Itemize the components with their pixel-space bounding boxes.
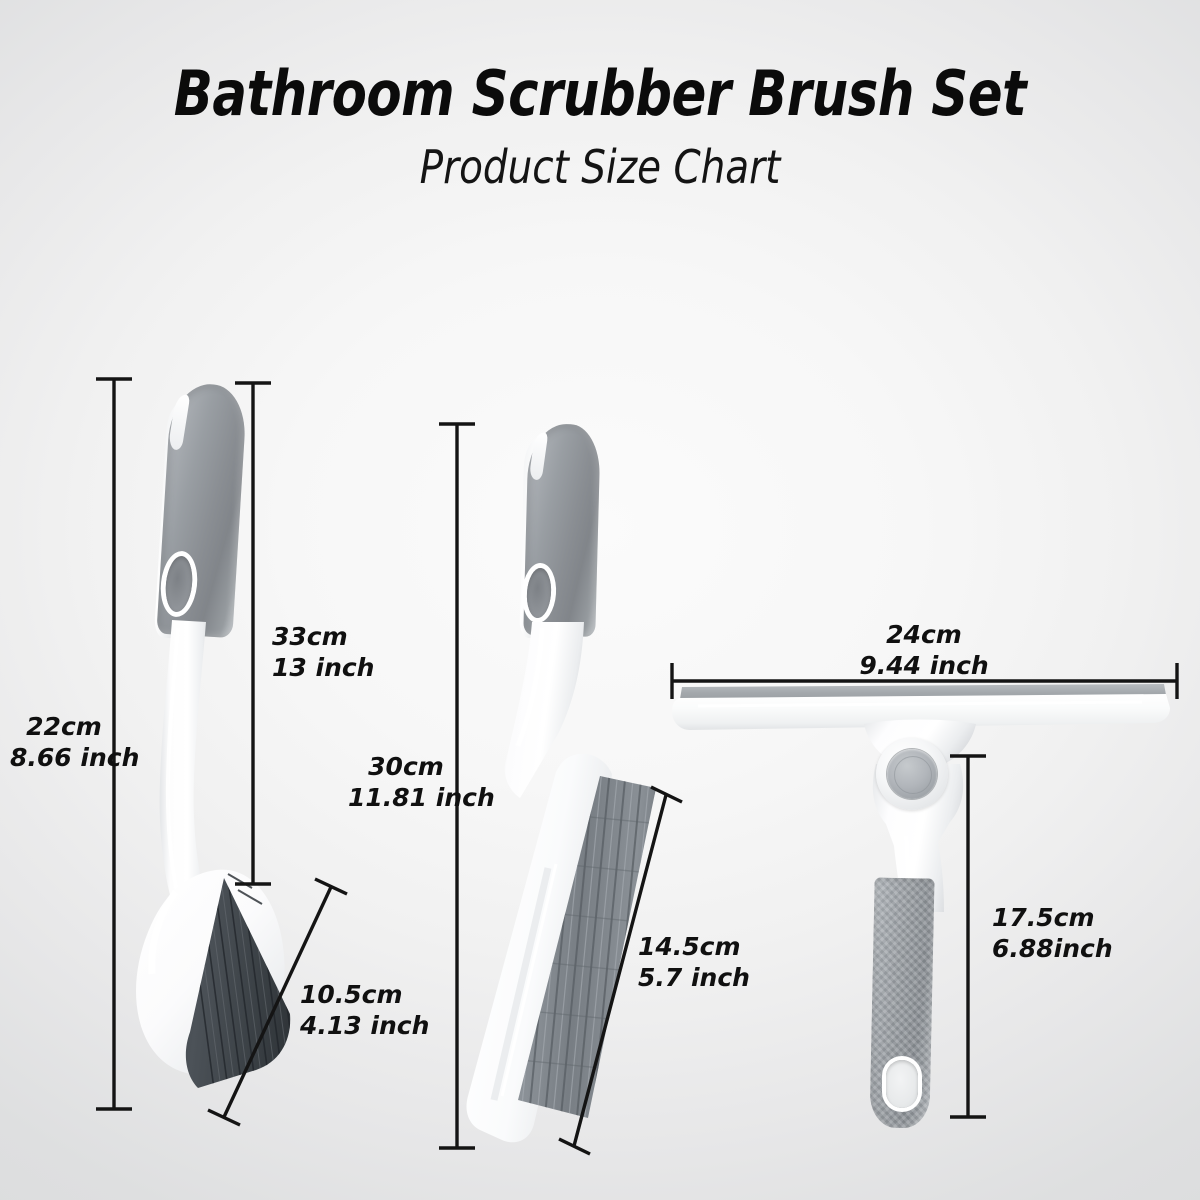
- label-squeegee-height-cm: 17.5cm: [992, 903, 1095, 932]
- product-squeegee: [660, 660, 1180, 1130]
- label-squeegee-height-inch: 6.88inch: [992, 934, 1113, 965]
- label-squeegee-width-cm: 24cm: [886, 620, 962, 649]
- page-title: Bathroom Scrubber Brush Set: [48, 0, 1152, 126]
- label-brush1-handle: 33cm 13 inch: [272, 622, 374, 683]
- label-squeegee-height: 17.5cm 6.88inch: [992, 903, 1113, 964]
- label-brush1-overall-inch: 8.66 inch: [10, 743, 118, 774]
- label-brush1-overall: 22cm 8.66 inch: [10, 712, 118, 773]
- page-subtitle: Product Size Chart: [36, 126, 1164, 192]
- label-squeegee-width: 24cm 9.44 inch: [828, 620, 1020, 681]
- label-brush2-head-cm: 14.5cm: [638, 932, 741, 961]
- header: Bathroom Scrubber Brush Set Product Size…: [0, 0, 1200, 192]
- label-brush1-overall-cm: 22cm: [26, 712, 102, 741]
- label-brush2-head: 14.5cm 5.7 inch: [638, 932, 750, 993]
- label-brush2-head-inch: 5.7 inch: [638, 963, 750, 994]
- squeegee-hanging-hole: [886, 1060, 918, 1108]
- label-brush1-head: 10.5cm 4.13 inch: [300, 980, 429, 1041]
- brush1-brush-head: [120, 864, 310, 1098]
- label-brush2-overall: 30cm 11.81 inch: [348, 752, 464, 813]
- product-size-chart-page: Bathroom Scrubber Brush Set Product Size…: [0, 0, 1200, 1200]
- label-brush1-head-inch: 4.13 inch: [300, 1011, 429, 1042]
- label-brush2-overall-cm: 30cm: [368, 752, 444, 781]
- label-squeegee-width-inch: 9.44 inch: [828, 651, 1020, 682]
- label-brush1-handle-inch: 13 inch: [272, 653, 374, 684]
- label-brush2-overall-inch: 11.81 inch: [348, 783, 464, 814]
- label-brush1-handle-cm: 33cm: [272, 622, 348, 651]
- squeegee-pivot-ring: [894, 756, 932, 794]
- label-brush1-head-cm: 10.5cm: [300, 980, 403, 1009]
